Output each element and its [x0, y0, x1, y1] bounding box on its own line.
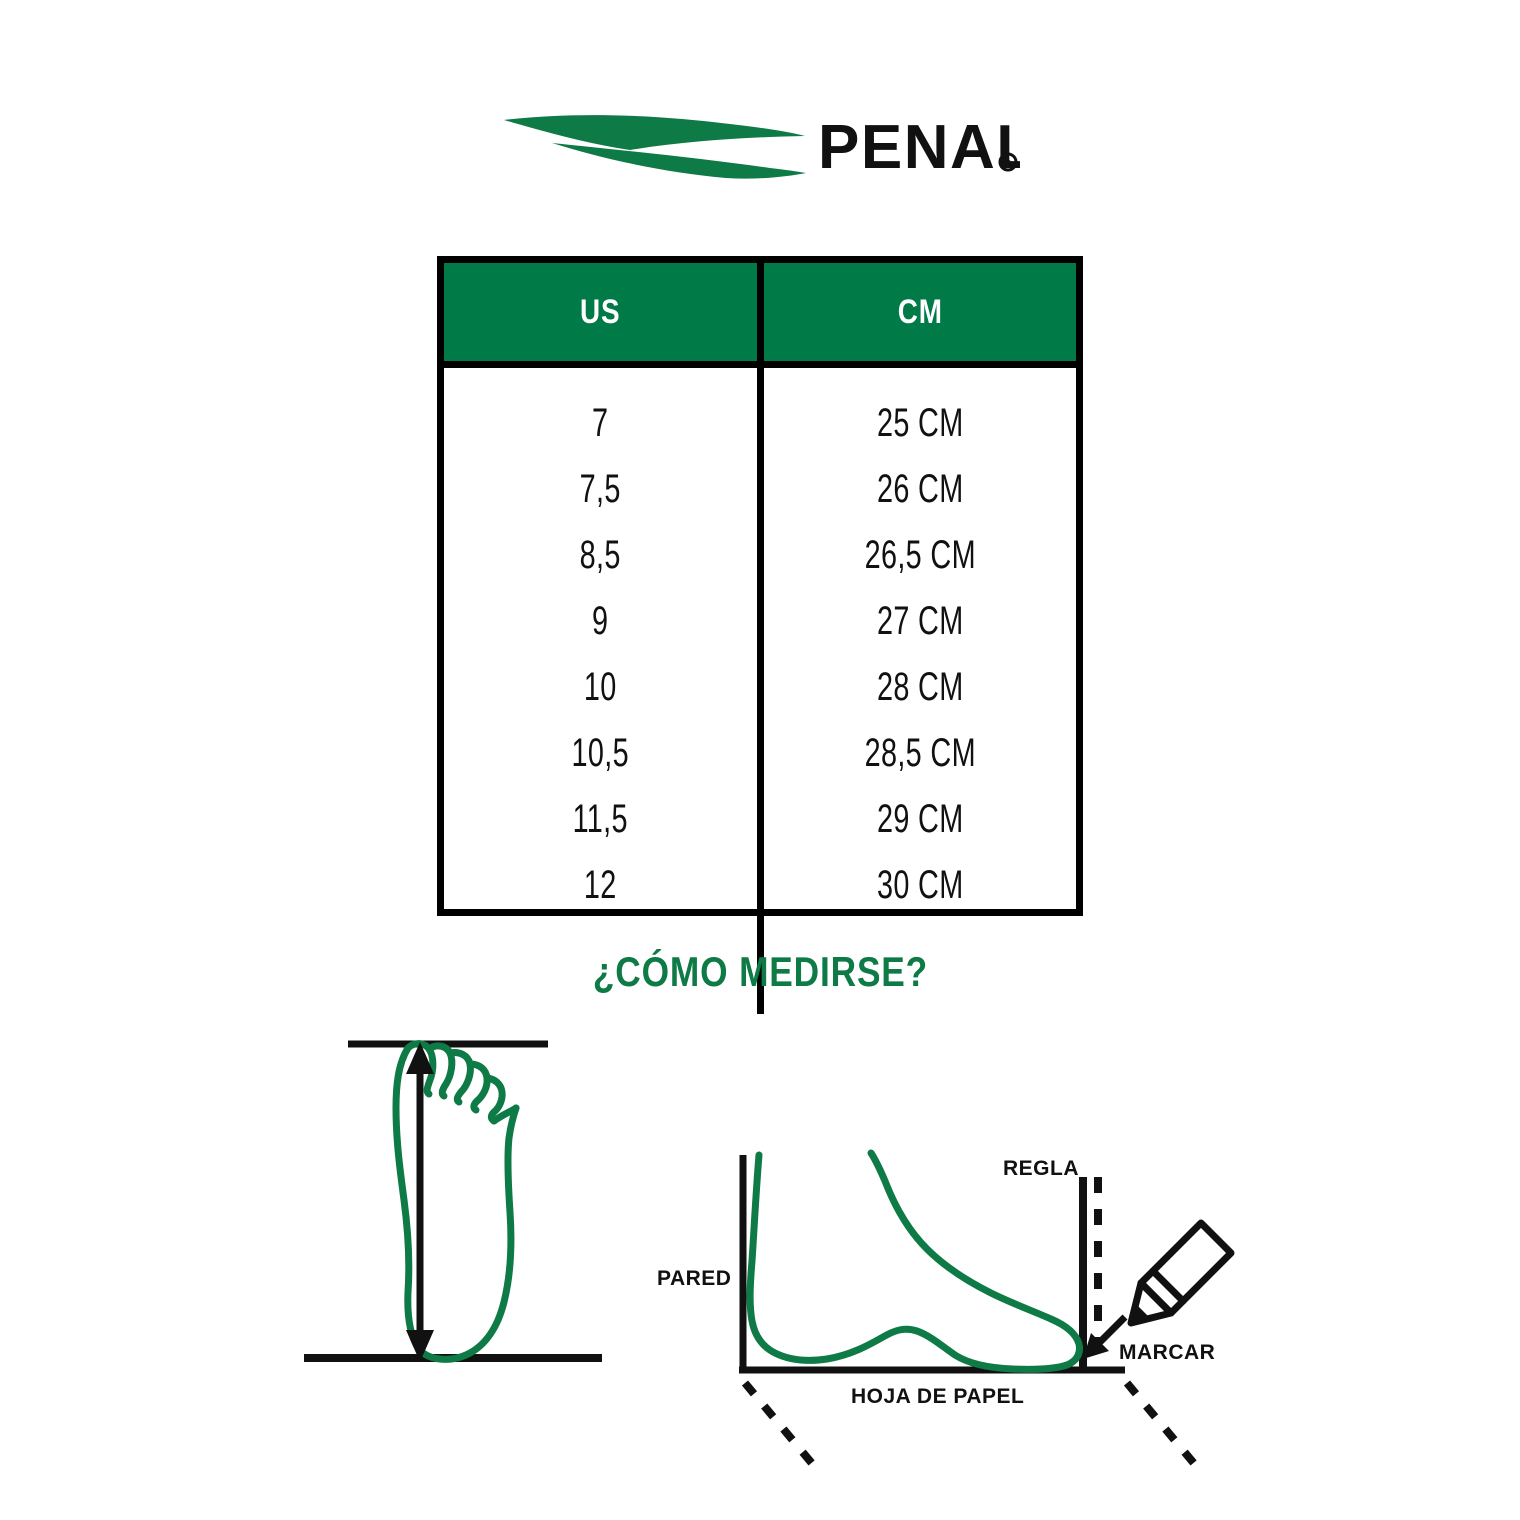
- svg-text:R: R: [1004, 159, 1011, 170]
- table-cell-us: 10: [488, 654, 713, 720]
- table-cell-cm: 29 CM: [807, 786, 1032, 852]
- pencil-icon: [1131, 1223, 1231, 1323]
- label-pared: PARED: [657, 1267, 731, 1290]
- paper-perspective-dashed-right: [1127, 1383, 1197, 1467]
- label-hoja-de-papel: HOJA DE PAPEL: [851, 1385, 1024, 1408]
- table-cell-us: 7,5: [488, 456, 713, 522]
- table-cell-us: 10,5: [488, 720, 713, 786]
- table-cell-cm: 30 CM: [807, 852, 1032, 918]
- table-header-row: US CM: [444, 263, 1076, 368]
- column-us-values: 7 7,5 8,5 9 10 10,5 11,5 12: [444, 368, 757, 1014]
- table-body: 7 7,5 8,5 9 10 10,5 11,5 12 25 CM 26 CM …: [444, 368, 1076, 1014]
- column-header-us-label: US: [472, 293, 728, 332]
- column-header-us: US: [444, 263, 757, 361]
- label-marcar: MARCAR: [1119, 1341, 1215, 1364]
- column-header-cm: CM: [757, 263, 1077, 361]
- wing-icon: [504, 115, 806, 179]
- brand-wordmark: PENALTY: [818, 113, 1020, 182]
- table-cell-cm: 25 CM: [807, 390, 1032, 456]
- column-header-cm-label: CM: [792, 293, 1048, 332]
- foot-side-view-icon: [750, 1153, 1079, 1369]
- table-cell-us: 9: [488, 588, 713, 654]
- brand-logo: PENALTY R: [0, 96, 1520, 192]
- table-cell-cm: 26 CM: [807, 456, 1032, 522]
- table-cell-us: 7: [488, 390, 713, 456]
- table-cell-us: 8,5: [488, 522, 713, 588]
- foot-side-view-diagram: PARED REGLA HOJA DE PAPEL MARCAR: [655, 1145, 1245, 1490]
- svg-text:PENALTY: PENALTY: [818, 113, 1020, 182]
- paper-perspective-dashed-left: [745, 1383, 815, 1467]
- how-to-measure-title: ¿CÓMO MEDIRSE?: [0, 948, 1520, 996]
- label-regla: REGLA: [1003, 1157, 1079, 1180]
- size-chart-table: US CM 7 7,5 8,5 9 10 10,5 11,5 12 25 CM …: [437, 256, 1083, 916]
- how-to-measure-title-label: ¿CÓMO MEDIRSE?: [592, 948, 927, 996]
- table-cell-cm: 27 CM: [807, 588, 1032, 654]
- penalty-wing-logo: PENALTY R: [500, 98, 1020, 190]
- foot-top-view-diagram: [290, 1030, 620, 1375]
- table-cell-us: 11,5: [488, 786, 713, 852]
- table-cell-cm: 28,5 CM: [807, 720, 1032, 786]
- foot-top-view-icon: [396, 1044, 516, 1360]
- table-cell-us: 12: [488, 852, 713, 918]
- table-cell-cm: 28 CM: [807, 654, 1032, 720]
- table-cell-cm: 26,5 CM: [807, 522, 1032, 588]
- column-cm-values: 25 CM 26 CM 26,5 CM 27 CM 28 CM 28,5 CM …: [757, 368, 1077, 1014]
